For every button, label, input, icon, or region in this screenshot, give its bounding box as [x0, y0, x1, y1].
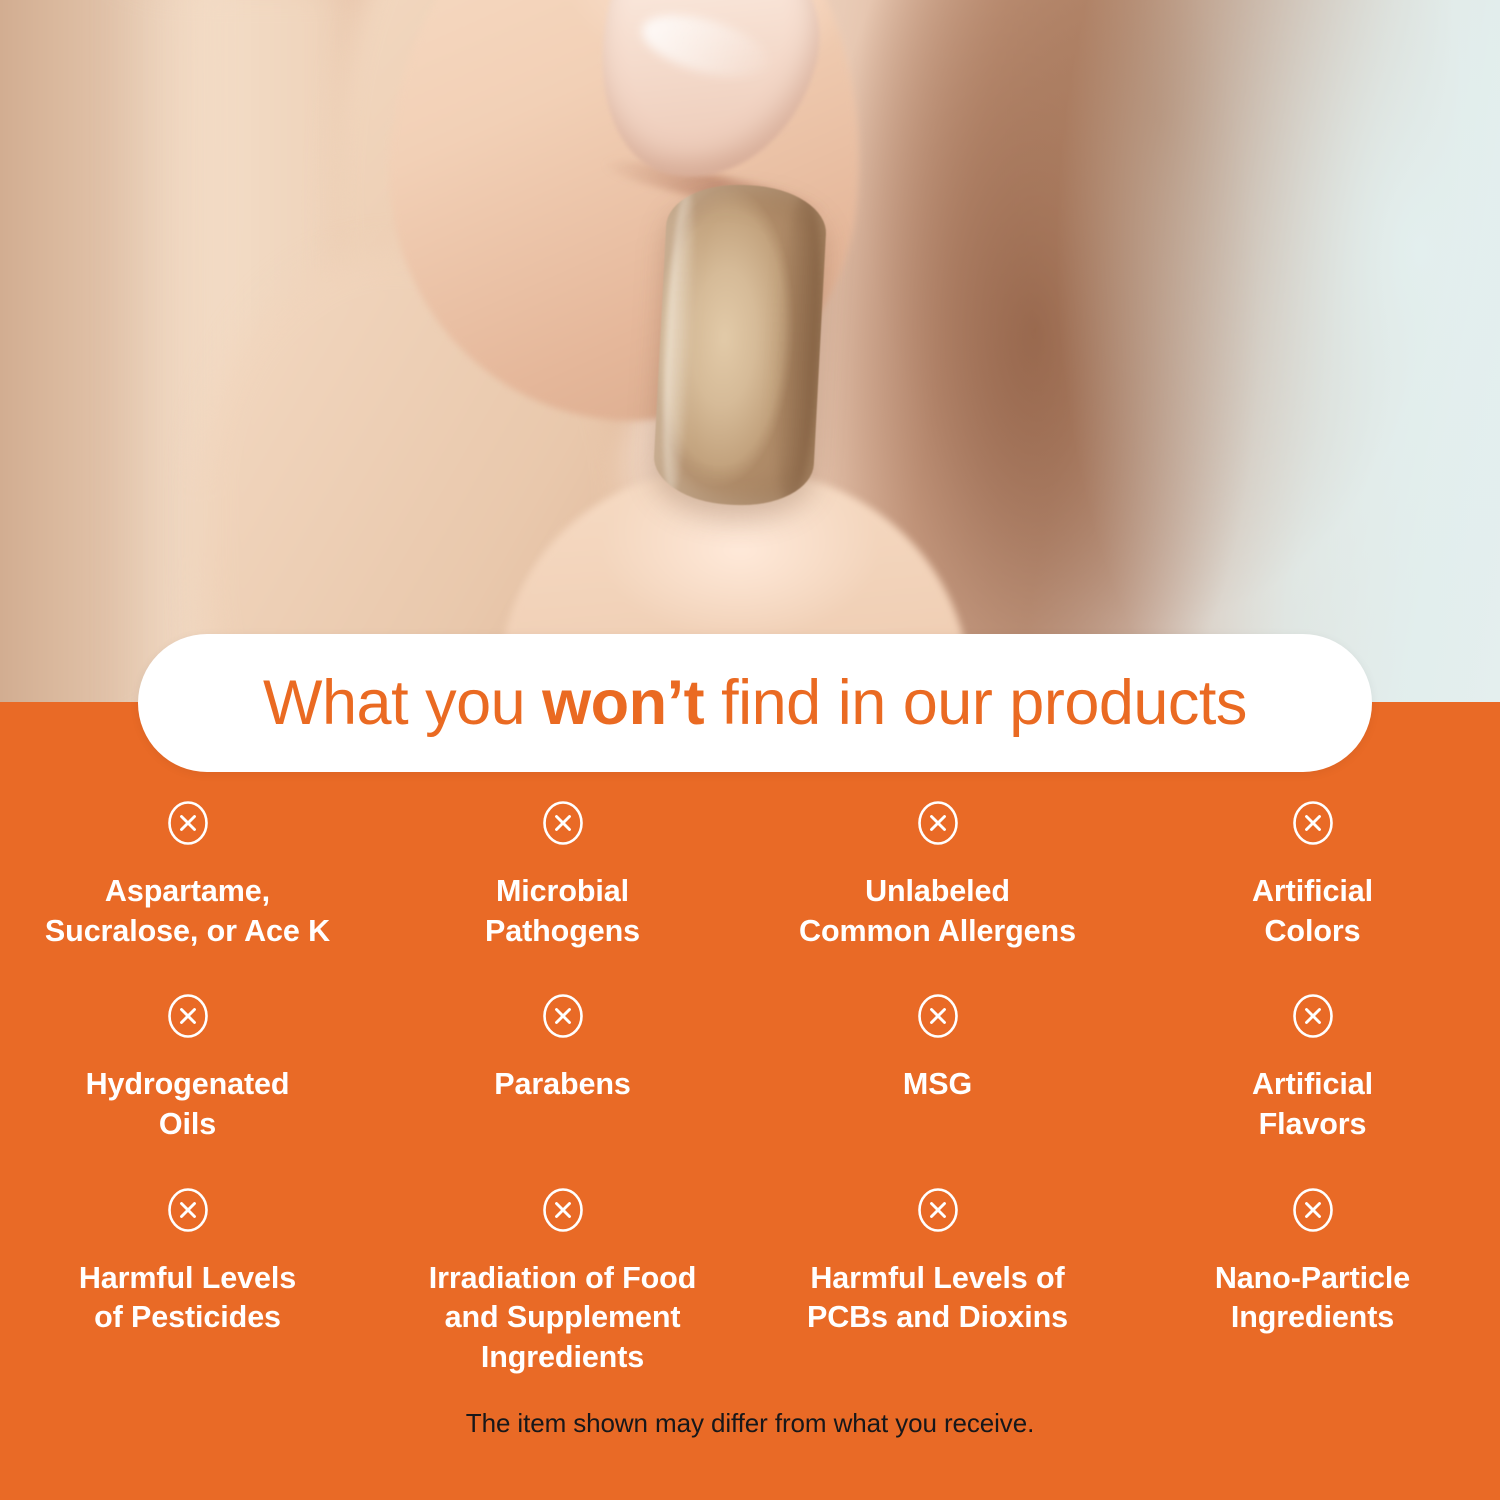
excluded-item-label: Irradiation of Food and Supplement Ingre… — [429, 1259, 697, 1378]
excluded-ingredients-grid: Aspartame, Sucralose, or Ace KMicrobial … — [0, 800, 1500, 1377]
excluded-item: Aspartame, Sucralose, or Ace K — [0, 800, 375, 951]
excluded-item: Hydrogenated Oils — [0, 993, 375, 1144]
excluded-item-label: Artificial Flavors — [1252, 1065, 1373, 1144]
x-circle-icon — [917, 1187, 959, 1233]
excluded-item: MSG — [750, 993, 1125, 1144]
x-circle-icon — [167, 800, 209, 846]
x-circle-icon — [917, 800, 959, 846]
excluded-item: Artificial Colors — [1125, 800, 1500, 951]
excluded-item: Parabens — [375, 993, 750, 1144]
x-circle-icon — [1292, 800, 1334, 846]
excluded-item: Nano-Particle Ingredients — [1125, 1187, 1500, 1378]
x-circle-icon — [917, 993, 959, 1039]
excluded-item-label: Microbial Pathogens — [485, 872, 640, 951]
supplement-tablet — [652, 181, 829, 509]
excluded-item-label: Harmful Levels of PCBs and Dioxins — [807, 1259, 1068, 1338]
excluded-item: Harmful Levels of Pesticides — [0, 1187, 375, 1378]
excluded-item-label: Hydrogenated Oils — [86, 1065, 290, 1144]
title-part-2: find in our products — [704, 668, 1247, 738]
excluded-item-label: Artificial Colors — [1252, 872, 1373, 951]
excluded-item-label: Parabens — [494, 1065, 631, 1105]
disclaimer-text: The item shown may differ from what you … — [0, 1408, 1500, 1439]
title-emphasis: won’t — [542, 668, 704, 738]
title-banner: What you won’t find in our products — [138, 634, 1372, 772]
excluded-item-label: Nano-Particle Ingredients — [1215, 1259, 1410, 1338]
x-circle-icon — [1292, 1187, 1334, 1233]
hand-holding-tablet-photo — [0, 0, 1500, 702]
excluded-item-label: Aspartame, Sucralose, or Ace K — [45, 872, 330, 951]
x-circle-icon — [542, 800, 584, 846]
excluded-item-label: Harmful Levels of Pesticides — [79, 1259, 296, 1338]
excluded-item: Irradiation of Food and Supplement Ingre… — [375, 1187, 750, 1378]
excluded-item: Unlabeled Common Allergens — [750, 800, 1125, 951]
excluded-item-label: Unlabeled Common Allergens — [799, 872, 1076, 951]
excluded-item-label: MSG — [903, 1065, 972, 1105]
title-part-1: What you — [263, 668, 542, 738]
product-infographic: What you won’t find in our products Aspa… — [0, 0, 1500, 1500]
excluded-item: Artificial Flavors — [1125, 993, 1500, 1144]
excluded-item: Microbial Pathogens — [375, 800, 750, 951]
tablet-body — [652, 181, 829, 509]
x-circle-icon — [542, 1187, 584, 1233]
x-circle-icon — [542, 993, 584, 1039]
x-circle-icon — [167, 1187, 209, 1233]
x-circle-icon — [167, 993, 209, 1039]
page-title: What you won’t find in our products — [263, 672, 1247, 735]
x-circle-icon — [1292, 993, 1334, 1039]
excluded-item: Harmful Levels of PCBs and Dioxins — [750, 1187, 1125, 1378]
